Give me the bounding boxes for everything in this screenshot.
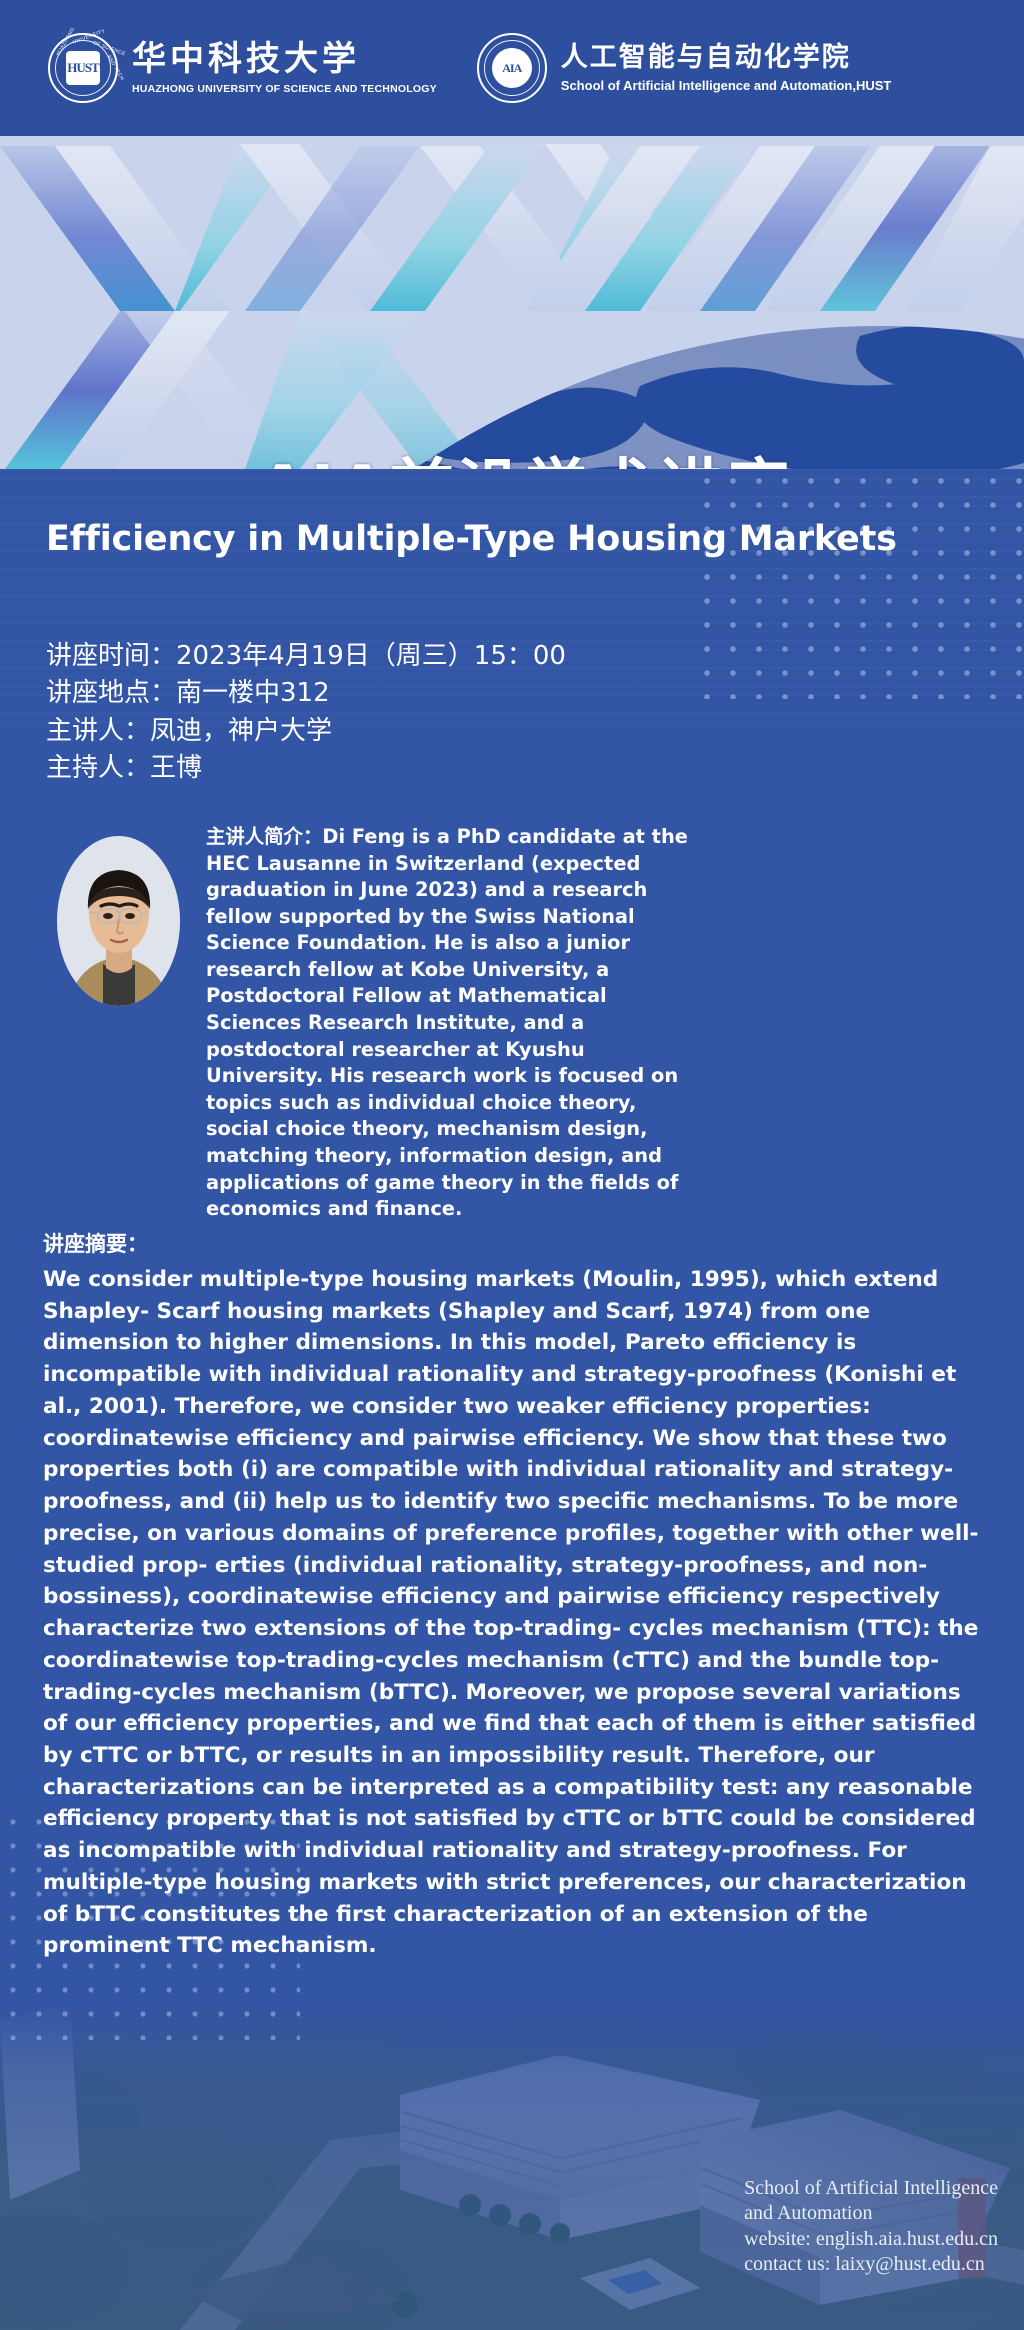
lecture-info-block: 讲座时间：2023年4月19日（周三）15：00 讲座地点：南一楼中312 主讲… [46,638,566,788]
lecture-host: 主持人：王博 [46,750,566,787]
poster-root: HUAZHONG UNIVERSITY OF SCIENCE AND TECH … [0,0,1024,2330]
school-name-cn: 人工智能与自动化学院 [561,44,892,71]
aia-seal-abbr: AIA [492,48,532,88]
abstract-body: We consider multiple-type housing market… [43,1264,983,1962]
banner-title: AIA前沿学术讲座 [258,458,792,469]
aia-seal-icon: AIA [477,33,547,103]
footer-school-line1: School of Artificial Intelligence [744,2176,998,2202]
university-name-cn: 华中科技大学 [132,42,437,76]
abstract-label: 讲座摘要： [43,1228,148,1258]
university-name-en: HUAZHONG UNIVERSITY OF SCIENCE AND TECHN… [132,83,437,95]
footer-school-line2: and Automation [744,2201,998,2227]
speaker-portrait [57,836,180,1006]
banner-graphic: AIA前沿学术讲座 Artificial Intelligence and Au… [0,136,1024,469]
university-text-block: 华中科技大学 HUAZHONG UNIVERSITY OF SCIENCE AN… [132,42,437,95]
portrait-illustration-icon [57,836,180,1006]
lecture-time: 讲座时间：2023年4月19日（周三）15：00 [46,638,566,675]
dot-grid-decoration-right [694,469,1024,699]
lecture-speaker: 主讲人：凤迪，神户大学 [46,713,566,750]
footer-website: website: english.aia.hust.edu.cn [744,2227,998,2253]
hust-seal-abbr: HUST [66,51,100,85]
school-name-en: School of Artificial Intelligence and Au… [561,78,892,93]
lecture-title: Efficiency in Multiple-Type Housing Mark… [46,519,897,559]
university-brand: HUAZHONG UNIVERSITY OF SCIENCE AND TECH … [48,33,437,103]
poster-header: HUAZHONG UNIVERSITY OF SCIENCE AND TECH … [0,0,1024,136]
school-text-block: 人工智能与自动化学院 School of Artificial Intellig… [561,44,892,93]
footer-contact: School of Artificial Intelligence and Au… [744,2176,998,2278]
footer-contact-email: contact us: laixy@hust.edu.cn [744,2252,998,2278]
hust-seal-icon: HUAZHONG UNIVERSITY OF SCIENCE AND TECH … [48,33,118,103]
speaker-bio: 主讲人简介：Di Feng is a PhD candidate at the … [206,824,690,1223]
lecture-location: 讲座地点：南一楼中312 [46,675,566,712]
school-brand: AIA 人工智能与自动化学院 School of Artificial Inte… [477,33,892,103]
globe-icon [0,136,1024,469]
campus-photo [0,2000,1024,2330]
campus-photo-overlay [0,2000,1024,2330]
